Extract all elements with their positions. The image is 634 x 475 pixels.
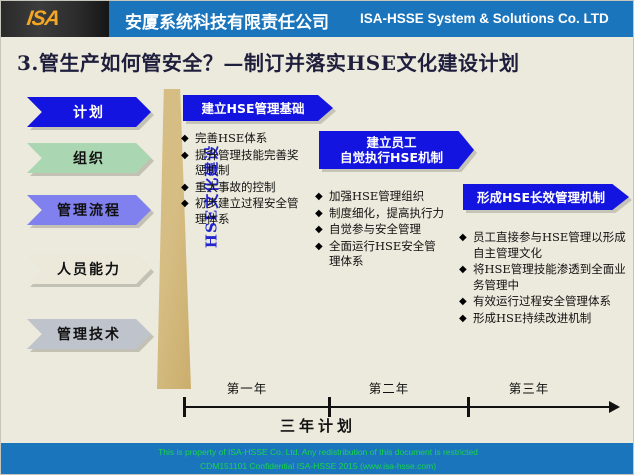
bullet-item: 提升管理技能完善奖惩机制 [181,148,309,179]
company-name-cn: 安厦系统科技有限责任公司 [125,8,329,33]
chevron-stage-4[interactable]: 人员能力 [27,254,151,284]
chevron-stage-1[interactable]: 计划 [27,97,151,127]
timeline-label-3: 第三年 [479,378,579,397]
bullet-item: 全面运行HSE安全管理体系 [315,239,447,270]
timeline-arrow-icon [609,401,620,413]
bullet-item: 制度细化，提高执行力 [315,206,447,222]
phase-banner-label: 建立HSE管理基础 [201,101,304,116]
bullet-item: 完善HSE体系 [181,131,309,147]
company-name-en: ISA-HSSE System & Solutions Co. LTD [360,11,609,26]
chevron-stage-3[interactable]: 管理流程 [27,195,151,225]
timeline-axis [183,406,613,408]
bullet-list: 员工直接参与HSE管理以形成自主管理文化将HSE管理技能渗透到全面业务管理中有效… [459,230,629,326]
bullet-item: 有效运行过程安全管理体系 [459,294,629,310]
chevron-label: 计划 [73,102,105,122]
phase-banner-3[interactable]: 形成HSE长效管理机制 [463,184,629,210]
bullet-item: 初步建立过程安全管理体系 [181,196,309,227]
bullet-item: 将HSE管理技能渗透到全面业务管理中 [459,262,629,293]
slide-header: ISA 安厦系统科技有限责任公司 ISA-HSSE System & Solut… [1,1,634,37]
footer-copyright-line: This is property of ISA-HSSE Co. Ltd. An… [1,445,634,459]
timeline-label-1: 第一年 [197,378,297,397]
phase-bullets-3: 员工直接参与HSE管理以形成自主管理文化将HSE管理技能渗透到全面业务管理中有效… [459,230,629,327]
timeline-tick-3 [467,397,470,417]
phase-banner-label: 形成HSE长效管理机制 [477,190,605,205]
bullet-item: 重大事故的控制 [181,180,309,196]
phase-banner-2[interactable]: 建立员工 自觉执行HSE机制 [319,131,474,169]
isa-logo-text: ISA [25,7,60,31]
bullet-list: 加强HSE管理组织制度细化，提高执行力自觉参与安全管理全面运行HSE安全管理体系 [315,189,447,270]
chevron-stage-2[interactable]: 组织 [27,143,151,173]
timeline-caption: 三年计划 [1,415,634,436]
phase-banner-label: 建立员工 自觉执行HSE机制 [340,135,443,165]
chevron-label: 人员能力 [57,259,121,279]
slide-footer: This is property of ISA-HSSE Co. Ltd. An… [1,443,634,474]
phase-banner-1[interactable]: 建立HSE管理基础 [183,95,333,121]
bullet-item: 加强HSE管理组织 [315,189,447,205]
bullet-item: 员工直接参与HSE管理以形成自主管理文化 [459,230,629,261]
bullet-item: 形成HSE持续改进机制 [459,311,629,327]
phase-bullets-2: 加强HSE管理组织制度细化，提高执行力自觉参与安全管理全面运行HSE安全管理体系 [315,189,447,271]
chevron-label: 组织 [73,148,105,168]
isa-logo: ISA [1,1,109,37]
timeline-tick-2 [328,397,331,417]
phase-bullets-1: 完善HSE体系提升管理技能完善奖惩机制重大事故的控制初步建立过程安全管理体系 [181,131,309,228]
page-title: 3.管生产如何管安全？—制订并落实HSE文化建设计划 [17,47,519,76]
chevron-label: 管理技术 [57,324,121,344]
timeline-label-2: 第二年 [339,378,439,397]
chevron-label: 管理流程 [57,200,121,220]
timeline-tick-1 [183,397,186,417]
slide-canvas: ISA 安厦系统科技有限责任公司 ISA-HSSE System & Solut… [0,0,634,475]
footer-confidential-line: CDM151101 Confidential ISA-HSSE 2015 (ww… [1,459,634,473]
bullet-item: 自觉参与安全管理 [315,222,447,238]
bullet-list: 完善HSE体系提升管理技能完善奖惩机制重大事故的控制初步建立过程安全管理体系 [181,131,309,227]
chevron-stage-5[interactable]: 管理技术 [27,319,151,349]
